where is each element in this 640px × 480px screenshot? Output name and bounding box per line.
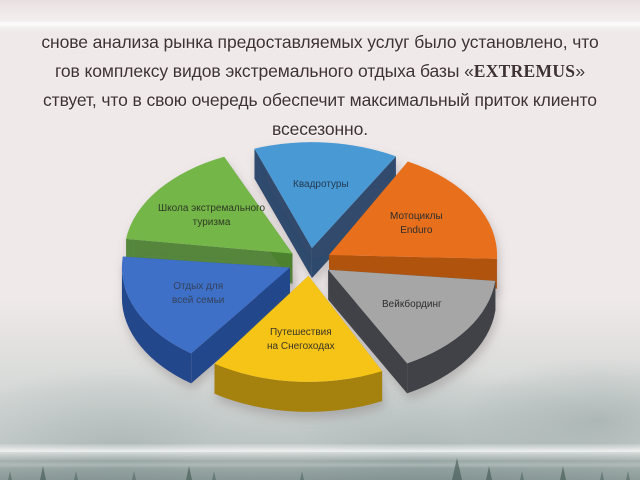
pie-chart: КвадротурыШкола экстремальноготуризмаМот…: [0, 0, 640, 480]
pie-chart-canvas: [0, 0, 640, 480]
presentation-slide: снове анализа рынка предоставляемых услу…: [0, 0, 640, 480]
